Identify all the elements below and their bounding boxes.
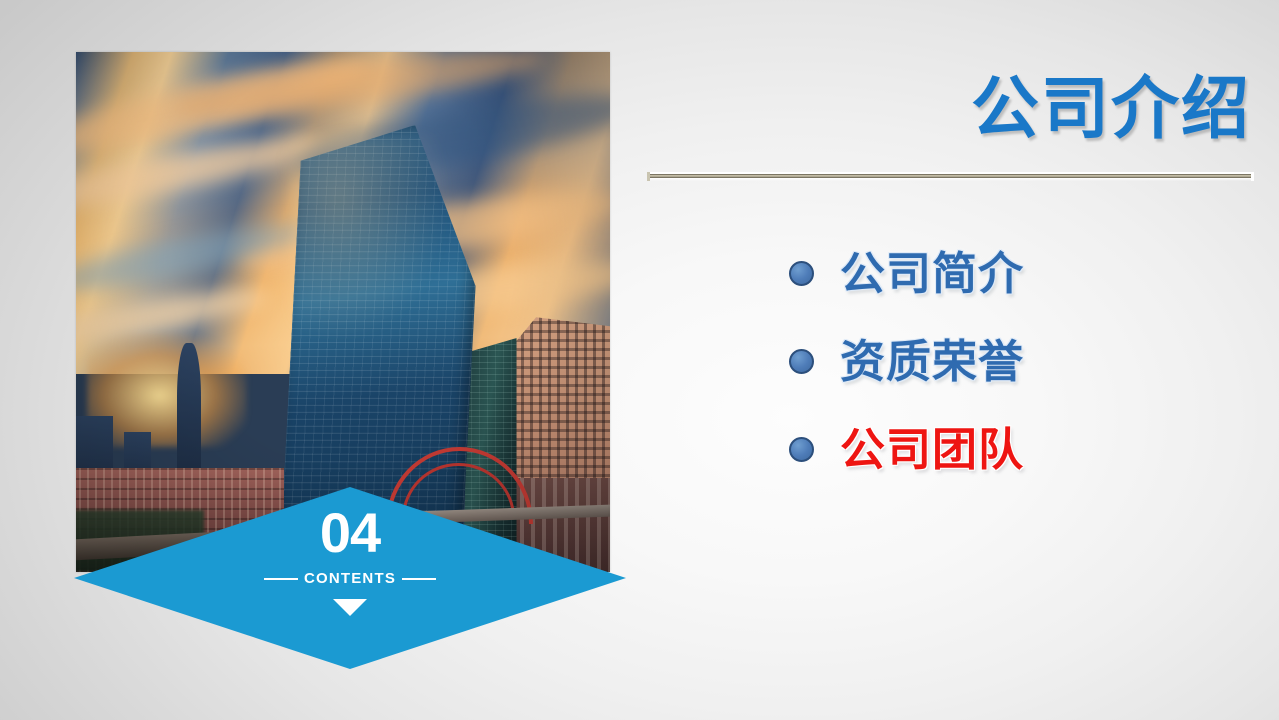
divider-shadow	[647, 178, 1254, 181]
distant-tower	[177, 343, 201, 478]
bullet-dot-icon	[789, 437, 814, 462]
agenda-item-company-profile[interactable]: 公司简介	[789, 229, 1255, 317]
bullet-dot-icon	[789, 349, 814, 374]
agenda-list: 公司简介 资质荣誉 公司团队	[645, 229, 1255, 493]
bullet-dot-icon	[789, 261, 814, 286]
presentation-slide: 04 CONTENTS 公司介绍 公司简介 资质荣誉	[0, 0, 1279, 720]
agenda-item-label: 资质荣誉	[840, 339, 1024, 384]
agenda-item-team[interactable]: 公司团队	[789, 405, 1255, 493]
agenda-item-label: 公司简介	[840, 251, 1024, 296]
divider-cap-left	[647, 172, 650, 181]
title-divider	[647, 172, 1254, 181]
agenda-item-label: 公司团队	[840, 427, 1024, 472]
agenda-item-qualifications[interactable]: 资质荣誉	[789, 317, 1255, 405]
content-column: 公司介绍 公司简介 资质荣誉 公司团队	[645, 70, 1255, 590]
glass-reflection	[290, 135, 450, 343]
page-title: 公司介绍	[645, 70, 1255, 148]
divider-cap-right	[1251, 172, 1254, 181]
